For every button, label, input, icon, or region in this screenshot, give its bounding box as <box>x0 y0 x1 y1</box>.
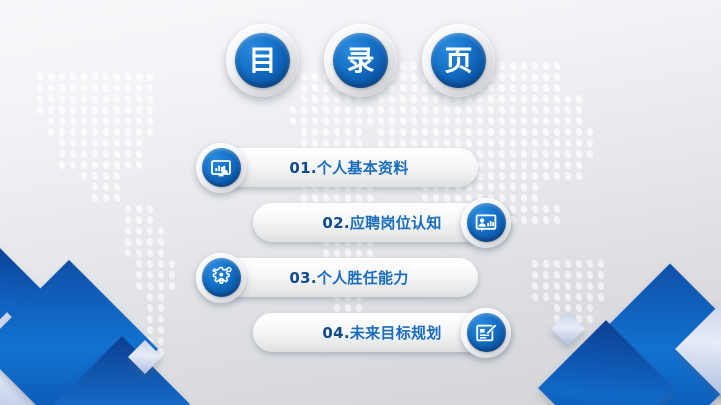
agenda-text-01: 个人基本资料 <box>317 159 409 177</box>
agenda-number-01: 01. <box>289 159 316 177</box>
presentation-slide: 目 录 页 <box>0 0 721 405</box>
agenda-item-02[interactable]: 02.应聘岗位认知 <box>0 195 721 250</box>
agenda-icon-04-ring[interactable] <box>461 308 511 358</box>
agenda-label-01: 01.个人基本资料 <box>289 157 408 178</box>
agenda-number-04: 04. <box>322 324 349 342</box>
agenda-number-03: 03. <box>289 269 316 287</box>
agenda-icon-01-ring[interactable] <box>196 143 246 193</box>
agenda-item-04[interactable]: 04.未来目标规划 <box>0 305 721 360</box>
agenda-number-02: 02. <box>322 214 349 232</box>
agenda-pill-01[interactable]: 01.个人基本资料 <box>220 148 478 187</box>
agenda-list: 01.个人基本资料 02.应聘岗位认知 <box>0 140 721 360</box>
gear-person-icon <box>202 258 241 297</box>
title-char-1: 目 <box>235 33 290 88</box>
title-circle-3: 页 <box>422 24 495 97</box>
agenda-pill-03[interactable]: 03.个人胜任能力 <box>220 258 478 297</box>
title-circle-2: 录 <box>324 24 397 97</box>
slide-title: 目 录 页 <box>0 24 721 97</box>
agenda-item-01[interactable]: 01.个人基本资料 <box>0 140 721 195</box>
agenda-icon-03-ring[interactable] <box>196 253 246 303</box>
document-pen-edit-icon <box>467 313 506 352</box>
agenda-item-03[interactable]: 03.个人胜任能力 <box>0 250 721 305</box>
agenda-text-03: 个人胜任能力 <box>317 269 409 287</box>
agenda-label-02: 02.应聘岗位认知 <box>322 212 441 233</box>
agenda-label-04: 04.未来目标规划 <box>322 322 441 343</box>
monitor-chart-click-icon <box>202 148 241 187</box>
agenda-icon-02-ring[interactable] <box>461 198 511 248</box>
title-circle-1: 目 <box>226 24 299 97</box>
agenda-text-04: 未来目标规划 <box>350 324 442 342</box>
agenda-text-02: 应聘岗位认知 <box>350 214 442 232</box>
agenda-label-03: 03.个人胜任能力 <box>289 267 408 288</box>
presentation-board-chart-icon <box>467 203 506 242</box>
title-char-3: 页 <box>431 33 486 88</box>
title-char-2: 录 <box>333 33 388 88</box>
